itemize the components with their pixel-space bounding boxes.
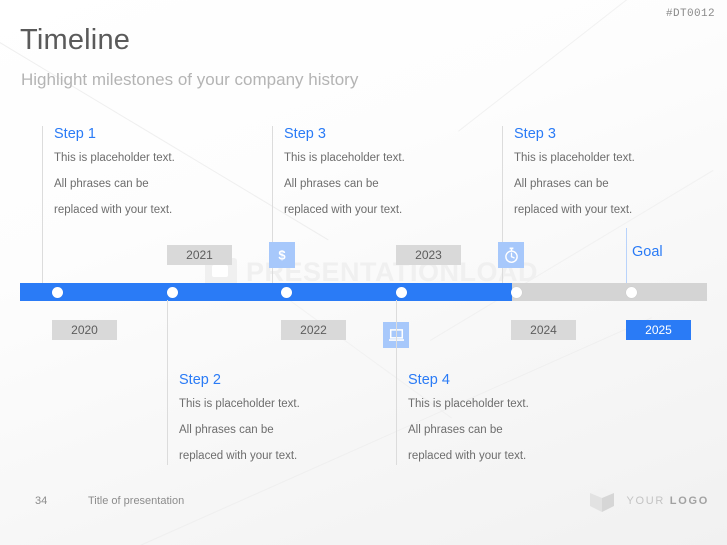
page-number: 34 [35,495,47,507]
logo-text-your: YOUR [626,495,669,507]
step-text-line: This is placeholder text. [284,151,436,166]
step-text-line: This is placeholder text. [408,397,560,412]
step-block-top-1[interactable]: Step 1 This is placeholder text. All phr… [42,126,206,219]
step-text-line: replaced with your text. [54,203,206,218]
year-badge-2021: 2021 [167,245,232,265]
step-block-top-3[interactable]: Step 3 This is placeholder text. All phr… [502,126,666,219]
step-text-line: All phrases can be [284,177,436,192]
year-badge-2025-goal: 2025 [626,320,691,340]
connector-line-goal [626,228,627,288]
connector-line-bottom-1 [167,300,168,372]
timeline-node-2023[interactable] [396,287,407,298]
svg-text:$: $ [278,248,286,263]
step-text-line: replaced with your text. [284,203,436,218]
step-title: Step 3 [514,126,666,142]
goal-label: Goal [632,244,663,260]
step-text-line: replaced with your text. [179,449,331,464]
year-badge-2023: 2023 [396,245,461,265]
step-title: Step 1 [54,126,206,142]
step-block-bottom-1[interactable]: Step 2 This is placeholder text. All phr… [167,372,331,465]
year-badge-2022: 2022 [281,320,346,340]
footer-presentation-title: Title of presentation [88,495,184,507]
step-text-line: All phrases can be [54,177,206,192]
step-text-line: All phrases can be [179,423,331,438]
logo-text: YOUR LOGO [626,495,709,507]
step-block-top-2[interactable]: Step 3 This is placeholder text. All phr… [272,126,436,219]
timeline-node-2024[interactable] [511,287,522,298]
watermark: PRESENTATIONLOAD [205,258,538,286]
timeline-bar-progress [20,283,512,301]
page-title: Timeline [20,24,130,57]
timeline-node-2025[interactable] [626,287,637,298]
year-badge-2024: 2024 [511,320,576,340]
dollar-icon[interactable]: $ [269,242,295,268]
timeline-node-2021[interactable] [167,287,178,298]
timeline-node-2020[interactable] [52,287,63,298]
step-text-line: This is placeholder text. [179,397,331,412]
page-subtitle: Highlight milestones of your company his… [21,70,358,90]
cube-logo-icon [589,487,615,514]
year-badge-2020: 2020 [52,320,117,340]
step-text-line: This is placeholder text. [514,151,666,166]
timeline-node-2022[interactable] [281,287,292,298]
logo-text-logo: LOGO [670,495,709,507]
timeline-bar-track [20,283,707,301]
connector-line-top-1 [42,218,43,288]
logo-placeholder: YOUR LOGO [589,487,709,514]
step-title: Step 2 [179,372,331,388]
document-id-label: #DT0012 [666,8,715,20]
step-title: Step 3 [284,126,436,142]
step-text-line: This is placeholder text. [54,151,206,166]
step-text-line: replaced with your text. [514,203,666,218]
decorative-diagonal-line [458,0,640,132]
slide-canvas: #DT0012 Timeline Highlight milestones of… [0,0,727,545]
step-text-line: replaced with your text. [408,449,560,464]
stopwatch-icon[interactable] [498,242,524,268]
step-text-line: All phrases can be [514,177,666,192]
step-block-bottom-2[interactable]: Step 4 This is placeholder text. All phr… [396,372,560,465]
connector-line-bottom-2 [396,300,397,372]
step-text-line: All phrases can be [408,423,560,438]
step-title: Step 4 [408,372,560,388]
